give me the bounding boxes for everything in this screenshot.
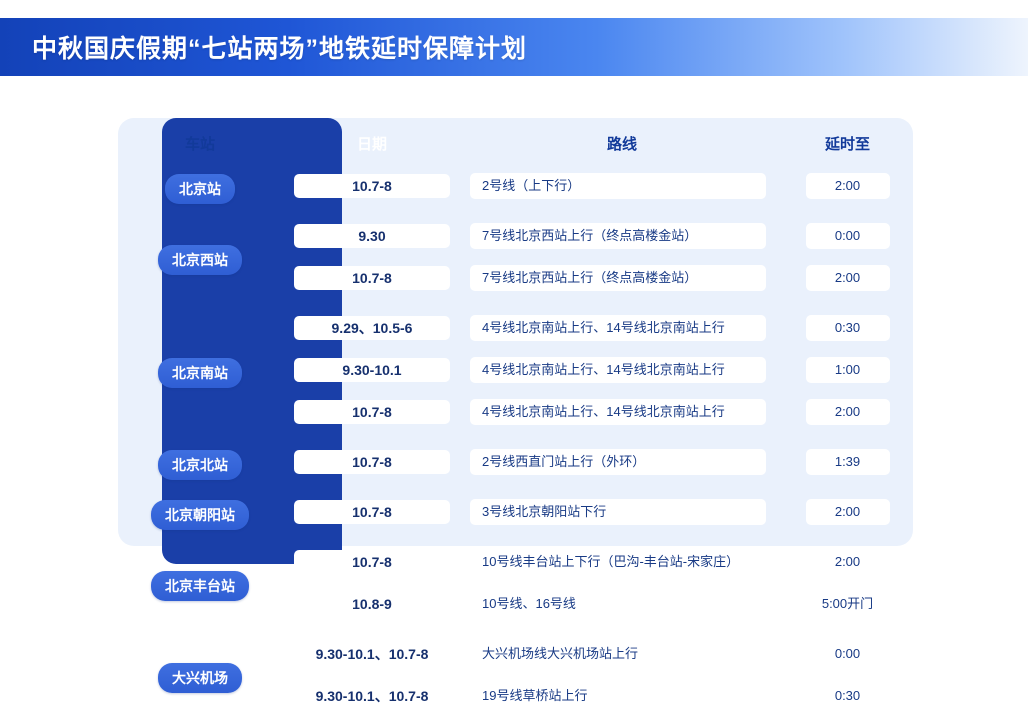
delay-value: 2:00: [806, 549, 890, 575]
delay-value: 2:00: [806, 499, 890, 525]
route-value: 大兴机场线大兴机场站上行: [470, 641, 766, 667]
delay-cell: 1:00: [782, 357, 913, 383]
delay-cell: 2:00: [782, 549, 913, 575]
table-row: 10.8-910号线、16号线5:00开门: [282, 586, 913, 622]
date-value: 9.29、10.5-6: [294, 316, 450, 340]
group-divider: [118, 486, 913, 494]
group-divider: [118, 536, 913, 544]
date-cell: 9.30-10.1: [282, 358, 462, 382]
station-group: 北京站10.7-82号线（上下行）2:00: [118, 168, 913, 210]
delay-value: 0:00: [806, 641, 890, 667]
date-value: 9.30-10.1、10.7-8: [294, 684, 450, 708]
station-rows: 9.307号线北京西站上行（终点高楼金站）0:0010.7-87号线北京西站上行…: [282, 218, 913, 302]
page-title: 中秋国庆假期“七站两场”地铁延时保障计划: [32, 29, 527, 65]
date-cell: 10.7-8: [282, 450, 462, 474]
station-label: 北京南站: [158, 358, 242, 388]
station-group: 大兴机场9.30-10.1、10.7-8大兴机场线大兴机场站上行0:009.30…: [118, 636, 913, 720]
date-value: 10.7-8: [294, 500, 450, 524]
route-cell: 2号线（上下行）: [462, 173, 782, 199]
station-cell: 北京南站: [118, 310, 282, 436]
date-value: 9.30: [294, 224, 450, 248]
route-value: 7号线北京西站上行（终点高楼金站）: [470, 223, 766, 249]
page-root: 中秋国庆假期“七站两场”地铁延时保障计划 车站 日期 路线 延时至 北京站10.…: [0, 0, 1028, 576]
date-value: 10.7-8: [294, 266, 450, 290]
date-value: 10.7-8: [294, 400, 450, 424]
delay-value: 1:39: [806, 449, 890, 475]
station-rows: 9.29、10.5-64号线北京南站上行、14号线北京南站上行0:309.30-…: [282, 310, 913, 436]
route-value: 10号线、16号线: [470, 591, 766, 617]
station-label: 大兴机场: [158, 663, 242, 693]
route-cell: 7号线北京西站上行（终点高楼金站）: [462, 265, 782, 291]
route-cell: 2号线西直门站上行（外环）: [462, 449, 782, 475]
column-header-route: 路线: [462, 133, 782, 154]
delay-value: 2:00: [806, 399, 890, 425]
table-row: 9.30-10.1、10.7-819号线草桥站上行0:30: [282, 678, 913, 714]
table-row: 10.7-82号线西直门站上行（外环）1:39: [282, 444, 913, 480]
route-value: 2号线（上下行）: [470, 173, 766, 199]
delay-cell: 2:00: [782, 265, 913, 291]
route-cell: 10号线丰台站上下行（巴沟-丰台站-宋家庄）: [462, 549, 782, 575]
station-label: 北京朝阳站: [151, 500, 249, 530]
route-cell: 3号线北京朝阳站下行: [462, 499, 782, 525]
group-divider: [118, 628, 913, 636]
delay-cell: 2:00: [782, 399, 913, 425]
station-rows: 10.7-810号线丰台站上下行（巴沟-丰台站-宋家庄）2:0010.8-910…: [282, 544, 913, 628]
table-header-row: 车站 日期 路线 延时至: [118, 118, 913, 168]
table-row: 9.307号线北京西站上行（终点高楼金站）0:00: [282, 218, 913, 254]
station-rows: 9.30-10.1、10.7-8大兴机场线大兴机场站上行0:009.30-10.…: [282, 636, 913, 720]
route-value: 4号线北京南站上行、14号线北京南站上行: [470, 315, 766, 341]
table-row: 9.30-10.14号线北京南站上行、14号线北京南站上行1:00: [282, 352, 913, 388]
date-cell: 10.7-8: [282, 500, 462, 524]
date-cell: 9.30-10.1、10.7-8: [282, 684, 462, 708]
route-cell: 7号线北京西站上行（终点高楼金站）: [462, 223, 782, 249]
delay-value: 2:00: [806, 173, 890, 199]
table-row: 9.30-10.1、10.7-8大兴机场线大兴机场站上行0:00: [282, 636, 913, 672]
station-rows: 10.7-82号线（上下行）2:00: [282, 168, 913, 210]
station-cell: 北京朝阳站: [118, 494, 282, 536]
route-value: 2号线西直门站上行（外环）: [470, 449, 766, 475]
station-label: 北京北站: [158, 450, 242, 480]
delay-cell: 0:30: [782, 315, 913, 341]
table-row: 10.7-87号线北京西站上行（终点高楼金站）2:00: [282, 260, 913, 296]
station-group: 北京丰台站10.7-810号线丰台站上下行（巴沟-丰台站-宋家庄）2:0010.…: [118, 544, 913, 628]
route-cell: 大兴机场线大兴机场站上行: [462, 641, 782, 667]
station-group: 北京西站9.307号线北京西站上行（终点高楼金站）0:0010.7-87号线北京…: [118, 218, 913, 302]
route-value: 4号线北京南站上行、14号线北京南站上行: [470, 399, 766, 425]
group-divider: [118, 210, 913, 218]
route-cell: 4号线北京南站上行、14号线北京南站上行: [462, 357, 782, 383]
table-row: 10.7-810号线丰台站上下行（巴沟-丰台站-宋家庄）2:00: [282, 544, 913, 580]
delay-cell: 0:00: [782, 223, 913, 249]
station-group: 北京朝阳站10.7-83号线北京朝阳站下行2:00: [118, 494, 913, 536]
delay-cell: 1:39: [782, 449, 913, 475]
route-cell: 4号线北京南站上行、14号线北京南站上行: [462, 315, 782, 341]
delay-cell: 2:00: [782, 499, 913, 525]
delay-cell: 0:00: [782, 641, 913, 667]
table-row: 10.7-83号线北京朝阳站下行2:00: [282, 494, 913, 530]
route-value: 19号线草桥站上行: [470, 683, 766, 709]
station-group: 北京北站10.7-82号线西直门站上行（外环）1:39: [118, 444, 913, 486]
station-label: 北京站: [165, 174, 235, 204]
station-label: 北京西站: [158, 245, 242, 275]
date-cell: 10.8-9: [282, 592, 462, 616]
column-header-date: 日期: [282, 133, 462, 154]
delay-value: 0:30: [806, 315, 890, 341]
station-cell: 北京西站: [118, 218, 282, 302]
date-value: 10.7-8: [294, 550, 450, 574]
station-cell: 北京丰台站: [118, 544, 282, 628]
route-cell: 19号线草桥站上行: [462, 683, 782, 709]
table-row: 10.7-82号线（上下行）2:00: [282, 168, 913, 204]
date-cell: 10.7-8: [282, 174, 462, 198]
date-cell: 9.30-10.1、10.7-8: [282, 642, 462, 666]
station-group: 北京南站9.29、10.5-64号线北京南站上行、14号线北京南站上行0:309…: [118, 310, 913, 436]
date-cell: 9.29、10.5-6: [282, 316, 462, 340]
station-rows: 10.7-82号线西直门站上行（外环）1:39: [282, 444, 913, 486]
route-value: 3号线北京朝阳站下行: [470, 499, 766, 525]
delay-value: 2:00: [806, 265, 890, 291]
group-divider: [118, 302, 913, 310]
station-cell: 大兴机场: [118, 636, 282, 720]
route-value: 4号线北京南站上行、14号线北京南站上行: [470, 357, 766, 383]
route-value: 10号线丰台站上下行（巴沟-丰台站-宋家庄）: [470, 549, 766, 575]
table-body: 北京站10.7-82号线（上下行）2:00北京西站9.307号线北京西站上行（终…: [118, 168, 913, 720]
header-banner: 中秋国庆假期“七站两场”地铁延时保障计划: [0, 18, 1028, 76]
delay-value: 1:00: [806, 357, 890, 383]
route-cell: 10号线、16号线: [462, 591, 782, 617]
date-value: 9.30-10.1、10.7-8: [294, 642, 450, 666]
delay-value: 5:00开门: [806, 591, 890, 617]
column-header-station: 车站: [118, 133, 282, 154]
delay-value: 0:30: [806, 683, 890, 709]
date-cell: 10.7-8: [282, 266, 462, 290]
date-value: 10.7-8: [294, 450, 450, 474]
date-cell: 10.7-8: [282, 550, 462, 574]
delay-cell: 0:30: [782, 683, 913, 709]
station-rows: 10.7-83号线北京朝阳站下行2:00: [282, 494, 913, 536]
delay-cell: 2:00: [782, 173, 913, 199]
delay-value: 0:00: [806, 223, 890, 249]
date-value: 10.8-9: [294, 592, 450, 616]
group-divider: [118, 436, 913, 444]
date-cell: 10.7-8: [282, 400, 462, 424]
schedule-table: 车站 日期 路线 延时至 北京站10.7-82号线（上下行）2:00北京西站9.…: [118, 118, 913, 546]
route-value: 7号线北京西站上行（终点高楼金站）: [470, 265, 766, 291]
date-value: 10.7-8: [294, 174, 450, 198]
date-cell: 9.30: [282, 224, 462, 248]
column-header-delay: 延时至: [782, 133, 913, 154]
route-cell: 4号线北京南站上行、14号线北京南站上行: [462, 399, 782, 425]
delay-cell: 5:00开门: [782, 591, 913, 617]
table-row: 10.7-84号线北京南站上行、14号线北京南站上行2:00: [282, 394, 913, 430]
date-value: 9.30-10.1: [294, 358, 450, 382]
table-row: 9.29、10.5-64号线北京南站上行、14号线北京南站上行0:30: [282, 310, 913, 346]
station-cell: 北京北站: [118, 444, 282, 486]
station-cell: 北京站: [118, 168, 282, 210]
